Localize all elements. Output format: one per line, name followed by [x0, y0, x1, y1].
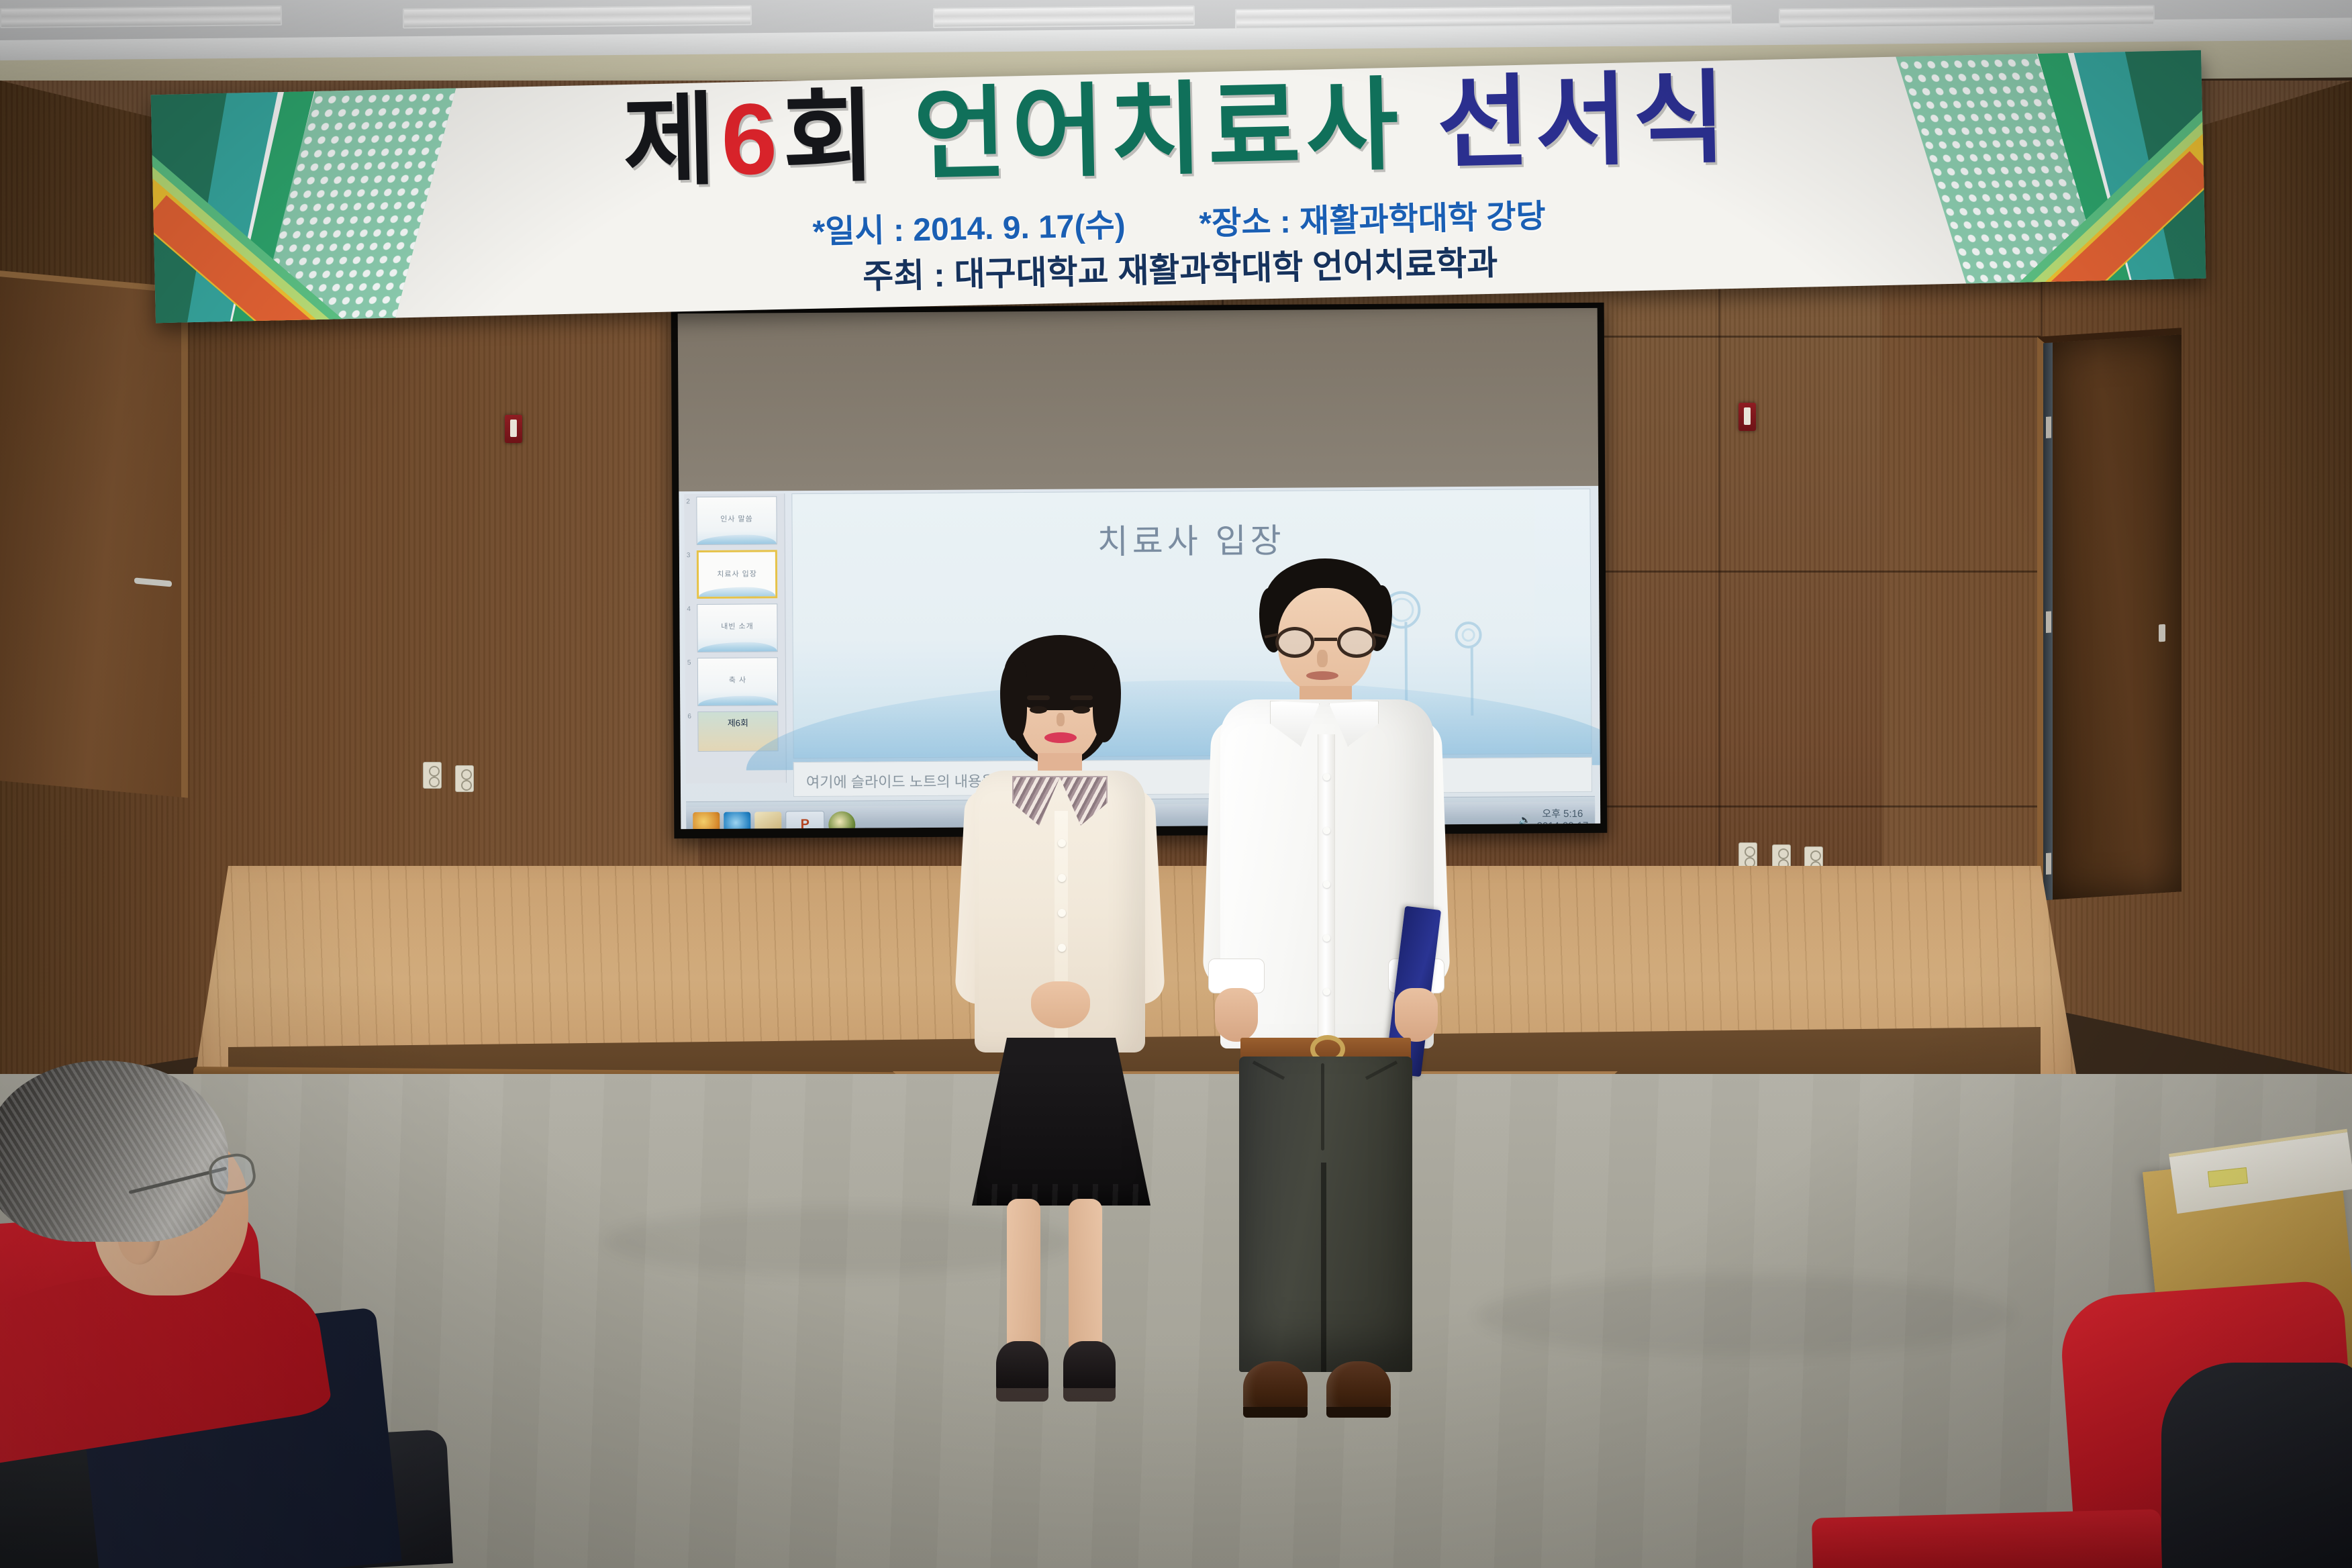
- door-hinge-icon: [2046, 416, 2051, 438]
- door-hinge-icon: [2046, 611, 2051, 633]
- banner-title-part-5: 선서식: [1402, 61, 1732, 181]
- thumbnail-number: 2: [686, 498, 690, 505]
- shirt-placket: [1318, 734, 1335, 1047]
- thumbnail-number: 6: [687, 713, 691, 720]
- shirt-button: [1323, 773, 1330, 781]
- stage-right-door[interactable]: [2037, 328, 2182, 901]
- lips: [1306, 671, 1338, 680]
- ceiling-light-fixture: [0, 5, 282, 28]
- hair-fringe: [1004, 635, 1116, 710]
- stage-left-door[interactable]: [0, 269, 188, 797]
- hand-right: [1395, 988, 1438, 1042]
- slide-thumbnail[interactable]: 내빈 소개: [697, 603, 777, 652]
- firefox-icon[interactable]: [693, 812, 720, 829]
- system-tray[interactable]: 🔊 오후 5:16 2014-09-17: [1519, 808, 1596, 829]
- shirt-button: [1323, 881, 1330, 888]
- thumbnail-label: 내빈 소개: [721, 623, 754, 631]
- thumbnail-wave-decor: [698, 642, 777, 652]
- wall-power-outlet[interactable]: [423, 762, 442, 789]
- blouse-button: [1058, 839, 1066, 847]
- shirt-button: [1323, 934, 1330, 942]
- media-player-icon[interactable]: [828, 811, 855, 829]
- banner-title-part-3: 회: [781, 80, 882, 195]
- shirt-button: [1323, 827, 1330, 834]
- thumbnail-label: 제6회: [728, 718, 748, 728]
- leg-right: [1069, 1199, 1102, 1355]
- auditorium-photo: 2 인사 말씀 3 치료사 입장 4 내빈 소개 5: [0, 0, 2352, 1568]
- thumbnail-number: 4: [687, 605, 691, 613]
- thumbnail-wave-decor: [698, 695, 777, 705]
- blouse-button: [1058, 944, 1066, 952]
- fire-alarm-strobe: [1738, 403, 1756, 431]
- trouser-fly: [1321, 1063, 1324, 1150]
- banner-title-part-1: 제: [622, 83, 723, 198]
- thumbnail-label: 치료사 입장: [717, 570, 757, 578]
- floor-scuff: [1477, 1275, 2014, 1356]
- clock[interactable]: 오후 5:16 2014-09-17: [1536, 808, 1588, 829]
- nose: [1057, 713, 1065, 726]
- graduating-therapist-man: [1181, 558, 1470, 1444]
- graduating-therapist-woman: [913, 638, 1202, 1436]
- slide-thumbnail-sidebar[interactable]: 2 인사 말씀 3 치료사 입장 4 내빈 소개 5: [684, 493, 787, 783]
- hand-left: [1215, 988, 1258, 1042]
- wall-power-outlet[interactable]: [1738, 842, 1757, 869]
- grey-hair: [0, 1061, 228, 1242]
- banner-text-block: 제6회 언어치료사 선서식 *일시 : 2014. 9. 17(수)*장소 : …: [151, 50, 2206, 324]
- black-platform-shoe-left: [996, 1341, 1048, 1402]
- door-handle-icon[interactable]: [134, 577, 172, 587]
- thumbnail-number: 3: [687, 552, 691, 559]
- glasses-bridge: [1314, 638, 1337, 641]
- thumbnail-wave-decor: [697, 534, 777, 544]
- black-platform-shoe-right: [1063, 1341, 1116, 1402]
- thumbnail-label: 인사 말씀: [720, 516, 753, 524]
- thumbnail-label: 축 사: [729, 677, 746, 685]
- glasses-lens-right: [1337, 627, 1376, 658]
- event-banner: 제6회 언어치료사 선서식 *일시 : 2014. 9. 17(수)*장소 : …: [151, 50, 2206, 324]
- banner-date: *일시 : 2014. 9. 17(수): [812, 208, 1126, 250]
- blouse-button: [1058, 874, 1066, 882]
- ceiling-light-fixture: [933, 5, 1195, 28]
- ceiling-light-fixture: [403, 5, 752, 29]
- wall-power-outlet[interactable]: [455, 765, 474, 792]
- lips: [1044, 732, 1077, 743]
- shirt-button: [1323, 988, 1330, 995]
- door-handle-icon[interactable]: [2159, 624, 2165, 642]
- thumbnail-number: 5: [687, 659, 691, 667]
- brown-dress-shoe-left: [1243, 1361, 1308, 1418]
- clasped-hands: [1031, 981, 1090, 1028]
- trouser-inseam: [1321, 1163, 1326, 1372]
- slide-thumbnail-selected[interactable]: 치료사 입장: [697, 550, 777, 599]
- nose: [1317, 650, 1328, 667]
- slide-thumbnail[interactable]: 축 사: [697, 657, 778, 706]
- ceiling-light-fixture: [1779, 5, 2155, 28]
- internet-explorer-icon[interactable]: [724, 812, 750, 829]
- eye: [1073, 706, 1090, 714]
- clock-time: 오후 5:16: [1536, 808, 1588, 820]
- wall-panel-seam: [1718, 282, 1720, 913]
- black-skirt: [972, 1038, 1150, 1212]
- volume-icon[interactable]: 🔊: [1519, 814, 1532, 826]
- seated-audience-member: [0, 1054, 470, 1568]
- banner-title-part-2: 6: [720, 82, 784, 196]
- banner-place: *장소 : 재활과학대학 강당: [1199, 199, 1546, 242]
- auditorium-chair-red: [1812, 1509, 2162, 1568]
- eye: [1030, 706, 1047, 714]
- leg-left: [1007, 1199, 1040, 1355]
- blouse-button: [1058, 909, 1066, 917]
- banner-title-part-4: 언어치료사: [879, 68, 1405, 193]
- brown-dress-shoe-right: [1326, 1361, 1391, 1418]
- thumbnail-wave-decor: [699, 587, 775, 597]
- auditorium-chair-dark: [2161, 1363, 2352, 1568]
- slide-title: 치료사 입장: [793, 512, 1590, 565]
- powerpoint-taskbar-button[interactable]: P: [785, 810, 824, 829]
- door-hinge-icon: [2046, 852, 2051, 875]
- clock-date: 2014-09-17: [1537, 820, 1589, 829]
- fire-alarm-strobe: [505, 415, 522, 443]
- eyebrow: [1027, 695, 1050, 700]
- glasses-lens-left: [1275, 627, 1314, 658]
- slide-thumbnail[interactable]: 인사 말씀: [696, 496, 777, 545]
- eyebrow: [1070, 695, 1093, 700]
- folder-icon[interactable]: [754, 812, 781, 829]
